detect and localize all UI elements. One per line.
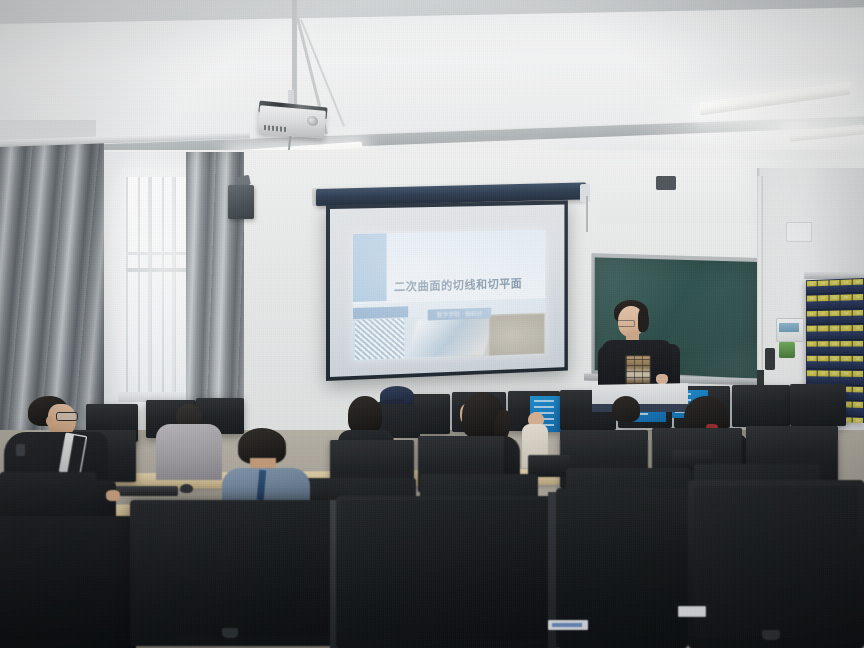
key-rack-slot[interactable]: 10 xyxy=(853,294,864,307)
key-rack-slot[interactable]: 15 xyxy=(853,310,864,323)
key-rack-slot[interactable]: 01 xyxy=(806,281,816,293)
key-rack-slot[interactable]: 14 xyxy=(841,310,852,322)
classroom-photo: 二次曲面的切线和切平面 数学学院 · 微积分 01020304050607080… xyxy=(0,0,864,648)
key-rack-slot[interactable]: 03 xyxy=(829,280,840,293)
lectern-front-panel xyxy=(592,404,688,412)
key-rack-row: 0102030405 xyxy=(806,278,864,295)
window-curtain[interactable] xyxy=(0,140,104,440)
key-rack-slot[interactable]: 07 xyxy=(818,295,828,307)
key-rack-slot[interactable]: 33 xyxy=(829,371,840,383)
desktop-monitor xyxy=(0,516,136,648)
screen-end-cap xyxy=(580,184,590,202)
projected-slide: 二次曲面的切线和切平面 数学学院 · 微积分 xyxy=(353,230,545,361)
monitor-stand-neck xyxy=(762,630,780,640)
key-rack-row: 0607080910 xyxy=(806,293,864,310)
key-rack-slot[interactable]: 20 xyxy=(853,325,864,337)
wall-mounted-device xyxy=(765,348,775,370)
key-rack-slot[interactable]: 32 xyxy=(818,371,828,383)
seated-man-hand xyxy=(106,490,120,501)
key-rack-slot[interactable]: 13 xyxy=(829,310,840,322)
lecturer-hair-side xyxy=(638,308,649,332)
paper-print-line xyxy=(552,623,582,627)
key-rack-slot[interactable]: 26 xyxy=(806,356,816,368)
key-rack-slot[interactable]: 09 xyxy=(841,295,852,308)
key-rack-slot[interactable]: 02 xyxy=(818,280,828,292)
student-head xyxy=(612,396,640,422)
key-rack-slot[interactable]: 27 xyxy=(818,356,828,368)
monitor-screen-off xyxy=(134,504,332,636)
key-rack-slot[interactable]: 17 xyxy=(818,326,828,338)
key-rack-slot[interactable]: 04 xyxy=(841,279,852,292)
list-item xyxy=(156,424,222,480)
slide-projector-glare xyxy=(353,230,545,361)
key-rack-slot[interactable]: 45 xyxy=(853,402,864,415)
wall-speaker-icon xyxy=(656,176,676,190)
key-rack-slot[interactable]: 28 xyxy=(829,356,840,368)
key-rack-slot[interactable]: 22 xyxy=(818,341,828,353)
key-rack-slot[interactable]: 21 xyxy=(806,341,816,353)
wall-indicator-box xyxy=(779,342,795,358)
key-rack-slot[interactable]: 30 xyxy=(853,356,864,368)
shoulder-badge xyxy=(16,444,25,456)
key-rack-row: 2627282930 xyxy=(806,355,864,371)
desktop-monitor xyxy=(732,385,790,427)
key-rack-slot[interactable]: 12 xyxy=(818,311,828,323)
key-rack-slot[interactable]: 29 xyxy=(841,356,852,368)
key-rack-slot[interactable]: 23 xyxy=(829,341,840,353)
wall-outlet-plate xyxy=(786,222,812,242)
key-rack-slot[interactable]: 24 xyxy=(841,341,852,353)
key-rack-slot[interactable]: 25 xyxy=(853,341,864,353)
key-rack-slot[interactable]: 34 xyxy=(841,371,852,383)
key-rack-slot[interactable]: 11 xyxy=(806,311,816,323)
screen-pull-chain[interactable] xyxy=(586,196,588,232)
key-rack-slot[interactable]: 05 xyxy=(853,279,864,292)
key-rack-slot[interactable]: 40 xyxy=(853,387,864,400)
monitor-screen-off xyxy=(340,500,550,640)
key-rack-slot[interactable]: 19 xyxy=(841,325,852,337)
key-rack-row: 1112131415 xyxy=(806,309,864,325)
monitor-stand-neck xyxy=(222,628,238,638)
key-rack-slot[interactable]: 18 xyxy=(829,326,840,338)
seated-man-ear xyxy=(46,416,53,426)
mouse[interactable] xyxy=(180,484,193,493)
key-rack-slot[interactable]: 16 xyxy=(806,326,816,338)
key-rack-slot[interactable]: 35 xyxy=(853,371,864,384)
projector-lens-icon xyxy=(307,116,318,127)
wall-speaker-icon xyxy=(228,185,254,219)
desk-number-tag xyxy=(678,606,706,617)
key-rack-row: 1617181920 xyxy=(806,324,864,340)
key-rack-slot[interactable]: 31 xyxy=(806,371,816,383)
key-rack-row: 2122232425 xyxy=(806,340,864,355)
key-rack-slot[interactable]: 08 xyxy=(829,295,840,307)
glasses-icon xyxy=(617,320,635,327)
lecturer-hand xyxy=(656,374,668,384)
key-rack-slot[interactable]: 50 xyxy=(853,417,864,423)
key-rack-slot[interactable]: 06 xyxy=(806,296,816,308)
glasses-icon xyxy=(56,412,78,421)
monitor-screen-off xyxy=(694,486,858,638)
student-head xyxy=(348,396,382,434)
wall-control-panel-display xyxy=(779,323,799,332)
desktop-monitor xyxy=(790,384,846,426)
